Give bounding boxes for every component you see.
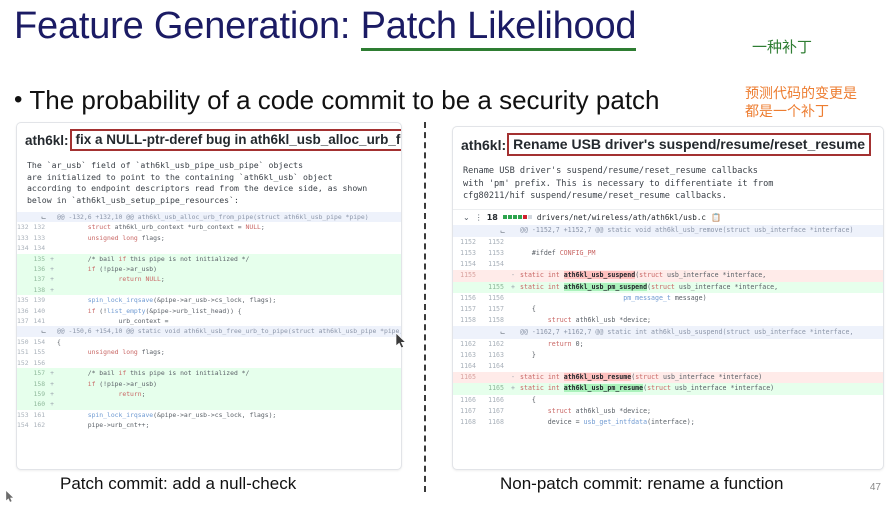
diff-row: 151155 unsigned long flags; [17,347,402,357]
diff-code: return; [54,389,402,399]
line-number-old: 135 [17,295,34,305]
diff-code: static int ath6kl_usb_pm_resume(struct u… [517,383,883,394]
diff-row: 11621162 return 0; [453,339,883,350]
diffstat-block [503,215,507,219]
line-number-old: 1153 [453,248,481,259]
diff-code: device = usb_get_intfdata(interface); [517,417,883,428]
diff-code: { [517,304,883,315]
diff-sign [509,350,517,361]
diff-row: 11571157 { [453,304,883,315]
line-number-new: 138 [34,285,51,295]
line-number-old [17,389,34,399]
diff-code: spin_lock_irqsave(&pipe->ar_usb->cs_lock… [54,295,402,305]
diff-code: #ifdef CONFIG_PM [517,248,883,259]
diff-row: 159+ return; [17,389,402,399]
diff-row: 11521152 [453,237,883,248]
line-number-new: ⨽ [481,225,509,237]
diff-row: 136140 if (!list_empty(&pipe->urb_list_h… [17,306,402,316]
diffstat-block [528,215,532,219]
diff-row: 133133 unsigned long flags; [17,233,402,243]
line-number-old: 1166 [453,395,481,406]
diff-code [54,243,402,253]
line-number-new: 136 [34,264,51,274]
diff-row: 134134 [17,243,402,253]
line-number-old: 1168 [453,417,481,428]
diff-sign: - [509,270,517,281]
commit-title-right: Rename USB driver's suspend/resume/reset… [507,133,871,156]
diff-code: struct ath6kl_usb *device; [517,315,883,326]
diff-row: 1155+static int ath6kl_usb_pm_suspend(st… [453,282,883,293]
commit-title-left: fix a NULL-ptr-deref bug in ath6kl_usb_a… [70,129,402,151]
diff-row: 1155-static int ath6kl_usb_suspend(struc… [453,270,883,281]
diff-code: /* bail if this pipe is not initialized … [54,254,402,264]
line-number-new: 1163 [481,350,509,361]
line-number-old: 1158 [453,315,481,326]
line-number-new [481,270,509,281]
diff-code: @@ -132,6 +132,10 @@ ath6kl_usb_alloc_ur… [54,212,402,222]
line-number-new: 137 [34,274,51,284]
line-number-old: 1167 [453,406,481,417]
commit-header-right: ath6kl: Rename USB driver's suspend/resu… [453,127,883,160]
diff-row: 11661166 { [453,395,883,406]
bullet-dot-icon: • [14,80,22,120]
diff-sign: + [509,282,517,293]
line-number-old: 151 [17,347,34,357]
diff-row: 11631163 } [453,350,883,361]
line-number-old [17,399,34,409]
line-number-new: 1162 [481,339,509,350]
diff-row: ⨽@@ -150,6 +154,10 @@ static void ath6kl… [17,326,402,336]
page-title: Feature Generation: Patch Likelihood [14,2,636,50]
copy-icon[interactable]: 📋 [711,213,721,222]
diff-sign: + [50,274,54,284]
diff-row: 11681168 device = usb_get_intfdata(inter… [453,417,883,428]
line-number-new: 1165 [481,383,509,394]
diff-sign [509,361,517,372]
page-title-emphasis: Patch Likelihood [361,5,637,51]
diff-sign [509,406,517,417]
line-number-old [453,282,481,293]
line-number-old [17,264,34,274]
diff-sign: - [509,372,517,383]
line-number-old: 134 [17,243,34,253]
page-title-main: Feature Generation: [14,5,361,47]
bullet-text: The probability of a code commit to be a… [29,80,659,120]
line-number-old: 152 [17,358,34,368]
diff-code: @@ -1152,7 +1152,7 @@ static void ath6kl… [517,225,883,237]
hunk-expander-icon[interactable]: ⨽ [41,326,45,335]
diff-code: return 0; [517,339,883,350]
bullet-row: • The probability of a code commit to be… [14,80,754,120]
line-number-new: 135 [34,254,51,264]
line-number-old [17,326,34,336]
diff-row: 137+ return NULL; [17,274,402,284]
line-number-new: 159 [34,389,51,399]
diff-sign: + [50,368,54,378]
diff-sign [509,315,517,326]
line-number-new: 1154 [481,259,509,270]
patch-commit-screenshot: ath6kl: fix a NULL-ptr-deref bug in ath6… [16,122,402,470]
diff-code: static int ath6kl_usb_suspend(struct usb… [517,270,883,281]
commit-header-left: ath6kl: fix a NULL-ptr-deref bug in ath6… [17,123,401,155]
line-number-old [17,368,34,378]
diff-table-left: ⨽@@ -132,6 +132,10 @@ ath6kl_usb_alloc_u… [17,212,402,431]
diff-sign: + [50,399,54,409]
line-number-new: 154 [34,337,51,347]
file-header-row[interactable]: ⌄ ⋮ 18 drivers/net/wireless/ath/ath6kl/u… [453,209,883,225]
diff-row: 150154{ [17,337,402,347]
line-number-new: ⨽ [34,326,51,336]
line-number-old: 1154 [453,259,481,270]
line-number-new: 155 [34,347,51,357]
line-number-new: 1167 [481,406,509,417]
mouse-cursor-secondary-icon [6,491,15,509]
line-number-new: 162 [34,420,51,430]
diff-sign [509,339,517,350]
line-number-new: 1155 [481,282,509,293]
diff-sign [509,304,517,315]
diff-row: 158+ if (!pipe->ar_usb) [17,379,402,389]
line-number-new: 160 [34,399,51,409]
diff-row: 136+ if (!pipe->ar_usb) [17,264,402,274]
line-number-new: ⨽ [481,326,509,338]
line-number-new: 1168 [481,417,509,428]
diff-code [54,399,402,409]
line-number-old: 153 [17,410,34,420]
line-number-old: 154 [17,420,34,430]
hunk-expander-icon[interactable]: ⨽ [500,226,504,235]
line-number-new: 134 [34,243,51,253]
diff-code [54,358,402,368]
line-number-new: 1153 [481,248,509,259]
diffstat-block [508,215,512,219]
annotation-orange: 预测代码的变更是 都是一个补丁 [745,85,857,121]
annotation-orange-line2: 都是一个补丁 [745,103,857,121]
diff-sign: + [50,379,54,389]
line-number-old: 150 [17,337,34,347]
diff-code: pipe->urb_cnt++; [54,420,402,430]
line-number-old: 1162 [453,339,481,350]
diff-sign [509,259,517,270]
line-number-old [17,379,34,389]
line-number-old [453,326,481,338]
line-number-old [17,285,34,295]
diff-row: 154162 pipe->urb_cnt++; [17,420,402,430]
diff-code: @@ -150,6 +154,10 @@ static void ath6kl_… [54,326,402,336]
line-number-old: 1164 [453,361,481,372]
diff-code: } [517,350,883,361]
line-number-new [481,372,509,383]
diff-code: struct ath6kl_urb_context *urb_context =… [54,222,402,232]
diff-code [517,361,883,372]
line-number-new: 158 [34,379,51,389]
diff-row: 138+ [17,285,402,295]
line-number-old: 136 [17,306,34,316]
diff-sign: + [509,383,517,394]
diff-row: 11641164 [453,361,883,372]
file-path[interactable]: drivers/net/wireless/ath/ath6kl/usb.c [537,213,706,222]
diff-code: spin_lock_irqsave(&pipe->ar_usb->cs_lock… [54,410,402,420]
annotation-orange-line1: 预测代码的变更是 [745,85,857,103]
commit-scope-left: ath6kl: [25,133,70,148]
diff-code: if (!list_empty(&pipe->urb_list_head)) { [54,306,402,316]
diff-table-right: ⨽@@ -1152,7 +1152,7 @@ static void ath6k… [453,225,883,429]
diff-code: unsigned long flags; [54,347,402,357]
diff-sign: + [50,264,54,274]
annotation-green: 一种补丁 [752,36,812,57]
line-number-new: 140 [34,306,51,316]
line-number-old: 1155 [453,270,481,281]
diff-sign [509,225,517,237]
diff-row: 1165+static int ath6kl_usb_pm_resume(str… [453,383,883,394]
diff-row: 132132 struct ath6kl_urb_context *urb_co… [17,222,402,232]
line-number-old: 137 [17,316,34,326]
line-number-old: 133 [17,233,34,243]
diff-code: unsigned long flags; [54,233,402,243]
diff-row: 157+ /* bail if this pipe is not initial… [17,368,402,378]
commit-message-right: Rename USB driver's suspend/resume/reset… [453,160,883,209]
diff-row: 135139 spin_lock_irqsave(&pipe->ar_usb->… [17,295,402,305]
line-number-new: 1156 [481,293,509,304]
caption-right: Non-patch commit: rename a function [500,474,783,494]
line-number-new: 1166 [481,395,509,406]
diffstat-block [513,215,517,219]
line-number-old: 1152 [453,237,481,248]
diff-code: urb_context = [54,316,402,326]
diff-sign: + [50,285,54,295]
line-number-old [17,274,34,284]
diff-code: struct ath6kl_usb *device; [517,406,883,417]
line-number-new: 157 [34,368,51,378]
diff-code: return NULL; [54,274,402,284]
line-number-new: 139 [34,295,51,305]
diff-row: 1165-static int ath6kl_usb_resume(struct… [453,372,883,383]
diff-sign [509,293,517,304]
line-number-new: ⨽ [34,212,51,222]
diff-sign: + [50,389,54,399]
diff-code: static int ath6kl_usb_pm_suspend(struct … [517,282,883,293]
line-number-new: 1152 [481,237,509,248]
line-number-old [17,254,34,264]
line-number-old [453,383,481,394]
diff-row: 137141 urb_context = [17,316,402,326]
diff-row: 160+ [17,399,402,409]
change-count: 18 [487,213,498,222]
diffstat-block [523,215,527,219]
diffstat-block [518,215,522,219]
hunk-expander-icon[interactable]: ⨽ [500,327,504,336]
diff-row: ⨽@@ -1162,7 +1162,7 @@ static int ath6kl… [453,326,883,338]
commit-message-left: The `ar_usb` field of `ath6kl_usb_pipe_u… [17,155,401,212]
line-number-new: 133 [34,233,51,243]
diff-code: @@ -1162,7 +1162,7 @@ static int ath6kl_… [517,326,883,338]
hunk-expander-icon[interactable]: ⨽ [41,212,45,221]
diff-row: 152156 [17,358,402,368]
commit-scope-right: ath6kl: [461,137,507,153]
expand-icon[interactable]: ⋮ [475,213,482,222]
vertical-dashed-divider [424,122,426,492]
line-number-old: 1163 [453,350,481,361]
line-number-old [453,225,481,237]
line-number-new: 156 [34,358,51,368]
line-number-new: 1158 [481,315,509,326]
diff-sign: + [50,254,54,264]
diff-row: 11671167 struct ath6kl_usb *device; [453,406,883,417]
diff-code [517,237,883,248]
diff-sign [509,237,517,248]
diff-sign [509,248,517,259]
diff-sign [509,417,517,428]
diff-row: 153161 spin_lock_irqsave(&pipe->ar_usb->… [17,410,402,420]
diff-sign [509,395,517,406]
line-number-new: 1164 [481,361,509,372]
line-number-old: 1157 [453,304,481,315]
diff-row: 11581158 struct ath6kl_usb *device; [453,315,883,326]
diff-code: pm_message_t message) [517,293,883,304]
diff-code: static int ath6kl_usb_resume(struct usb_… [517,372,883,383]
diff-code: /* bail if this pipe is not initialized … [54,368,402,378]
line-number-new: 132 [34,222,51,232]
line-number-new: 161 [34,410,51,420]
line-number-old: 132 [17,222,34,232]
diff-row: 11541154 [453,259,883,270]
caption-left: Patch commit: add a null-check [60,474,296,494]
page-number: 47 [870,482,881,493]
line-number-new: 141 [34,316,51,326]
diff-sign [509,326,517,338]
line-number-old: 1156 [453,293,481,304]
line-number-old [17,212,34,222]
diff-code [517,259,883,270]
diff-row: ⨽@@ -1152,7 +1152,7 @@ static void ath6k… [453,225,883,237]
diff-code: if (!pipe->ar_usb) [54,264,402,274]
diff-code: { [54,337,402,347]
diff-code: { [517,395,883,406]
diff-row: 135+ /* bail if this pipe is not initial… [17,254,402,264]
diff-code [54,285,402,295]
diff-row: 11561156 pm_message_t message) [453,293,883,304]
chevron-down-icon[interactable]: ⌄ [463,213,470,222]
line-number-new: 1157 [481,304,509,315]
non-patch-commit-screenshot: ath6kl: Rename USB driver's suspend/resu… [452,126,884,470]
diff-row: 11531153 #ifdef CONFIG_PM [453,248,883,259]
line-number-old: 1165 [453,372,481,383]
diffstat-bar [503,215,532,219]
diff-code: if (!pipe->ar_usb) [54,379,402,389]
diff-row: ⨽@@ -132,6 +132,10 @@ ath6kl_usb_alloc_u… [17,212,402,222]
